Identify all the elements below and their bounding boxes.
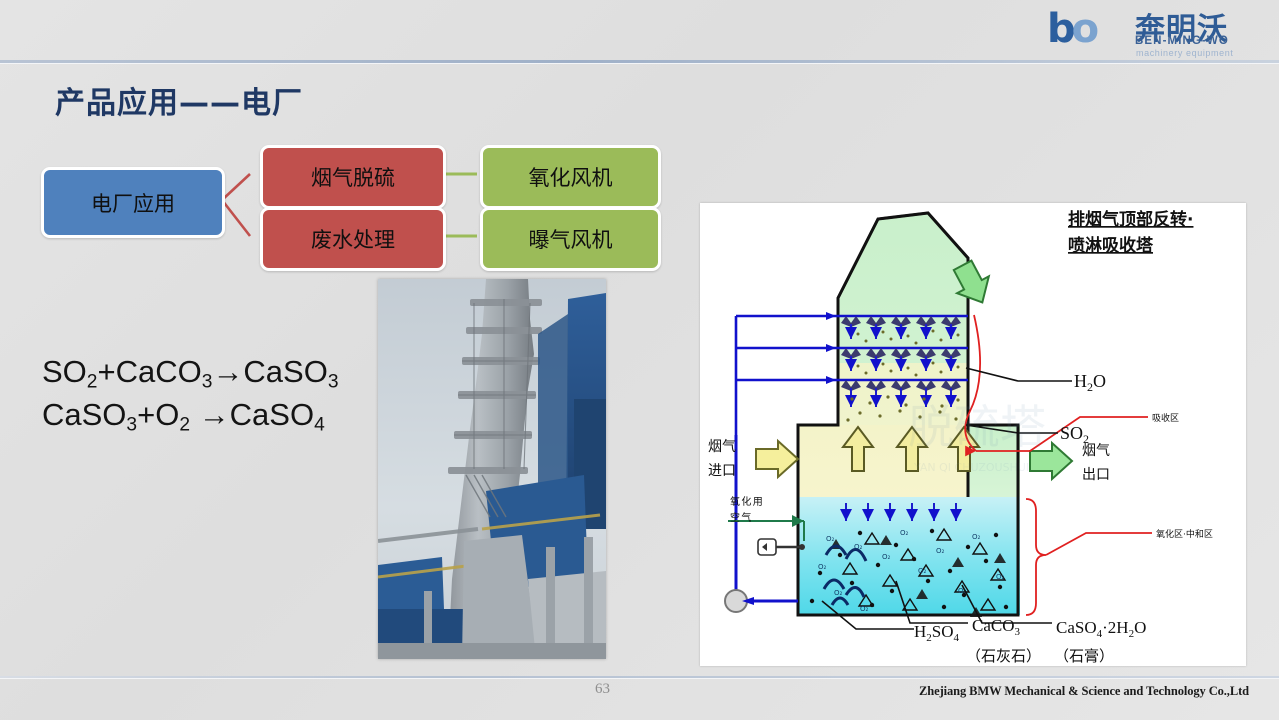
label-caco3: CaCO3 bbox=[972, 616, 1021, 638]
header-divider-highlight bbox=[0, 63, 1279, 64]
h2o-h: H bbox=[1074, 371, 1087, 391]
svg-text:O₂: O₂ bbox=[826, 535, 835, 543]
flow-node-desulfurization[interactable]: 烟气脱硫 bbox=[260, 145, 446, 209]
flow-diagram: 电厂应用 烟气脱硫 废水处理 氧化风机 曝气风机 bbox=[40, 145, 670, 270]
flow-node-oxidation-fan[interactable]: 氧化风机 bbox=[480, 145, 661, 209]
footer-divider-highlight bbox=[0, 678, 1279, 679]
absorber-tower-diagram: O₂O₂ O₂O₂ O₂O₂ O₂O₂ O₂O₂ O₂O₂ bbox=[700, 203, 1246, 666]
eq2-caso3: CaSO bbox=[42, 397, 126, 432]
company-logo: bo 奔明沃 BEN-MING-WO machinery equipment bbox=[1047, 4, 1257, 60]
eq1-arrow: → bbox=[212, 354, 243, 389]
label-oxidation-air-line1: 氧化用 bbox=[730, 495, 764, 508]
logo-mark-icon: bo bbox=[1047, 6, 1095, 52]
eq2-plus: + bbox=[137, 397, 155, 432]
eq1-caco3-sub: 3 bbox=[202, 371, 213, 392]
eq1-caso3-sub: 3 bbox=[328, 371, 339, 392]
connector-root-to-middle bbox=[222, 174, 250, 236]
diagram-title-line1: 排烟气顶部反转· bbox=[1068, 209, 1193, 230]
so2-sub: 2 bbox=[1083, 432, 1089, 446]
header-band: bo 奔明沃 BEN-MING-WO machinery equipment bbox=[0, 0, 1279, 62]
page-title: 产品应用——电厂 bbox=[55, 78, 303, 122]
svg-text:O₂: O₂ bbox=[882, 553, 891, 561]
label-inlet-line1: 烟气 bbox=[708, 439, 736, 455]
h2o-o: O bbox=[1093, 371, 1106, 391]
eq1-so2-sub: 2 bbox=[87, 371, 98, 392]
label-absorption-zone: 吸收区 bbox=[1152, 412, 1179, 424]
eq1-caco3: CaCO bbox=[116, 354, 202, 389]
label-oxidation-air-line2: 空气 bbox=[730, 511, 753, 524]
svg-text:O₂: O₂ bbox=[996, 573, 1005, 581]
svg-text:O₂: O₂ bbox=[860, 605, 869, 613]
eq2-o2: O bbox=[155, 397, 179, 432]
svg-text:O₂: O₂ bbox=[834, 589, 843, 597]
plant-photo bbox=[378, 279, 606, 659]
flow-node-root[interactable]: 电厂应用 bbox=[41, 167, 225, 238]
label-inlet-line2: 进口 bbox=[708, 463, 736, 479]
svg-text:脱硫塔: 脱硫塔 bbox=[908, 400, 1046, 454]
svg-text:O₂: O₂ bbox=[900, 529, 909, 537]
eq2-caso3-sub: 3 bbox=[126, 415, 137, 436]
page-number: 63 bbox=[595, 681, 610, 698]
label-outlet-line2: 出口 bbox=[1082, 467, 1110, 483]
eq1-so2: SO bbox=[42, 354, 87, 389]
svg-text:O₂: O₂ bbox=[918, 567, 927, 575]
svg-text:O₂: O₂ bbox=[936, 547, 945, 555]
label-oxidation-zone: 氧化区·中和区 bbox=[1156, 528, 1213, 540]
absorber-diagram-svg: O₂O₂ O₂O₂ O₂O₂ O₂O₂ O₂O₂ O₂O₂ bbox=[700, 203, 1246, 666]
eq1-plus: + bbox=[97, 354, 115, 389]
svg-text:O₂: O₂ bbox=[972, 533, 981, 541]
diagram-title-line2: 喷淋吸收塔 bbox=[1068, 235, 1154, 256]
eq2-caso4-sub: 4 bbox=[314, 415, 325, 436]
label-gypsum: （石膏） bbox=[1054, 647, 1114, 665]
eq2-o2-sub: 2 bbox=[179, 415, 190, 436]
slide-root: bo 奔明沃 BEN-MING-WO machinery equipment 产… bbox=[0, 0, 1279, 720]
eq2-caso4: CaSO bbox=[230, 397, 314, 432]
so2-s: SO bbox=[1060, 423, 1083, 443]
footer-company-name: Zhejiang BMW Mechanical & Science and Te… bbox=[919, 684, 1249, 699]
plant-photo-illustration bbox=[378, 279, 606, 659]
chemical-equations: SO2+CaCO3→CaSO3 CaSO3+O2 →CaSO4 bbox=[42, 352, 339, 439]
tower-liquid-pool bbox=[798, 497, 1020, 615]
equation-row-2: CaSO3+O2 →CaSO4 bbox=[42, 395, 339, 438]
flow-node-aeration-fan[interactable]: 曝气风机 bbox=[480, 207, 661, 271]
svg-text:O₂: O₂ bbox=[818, 563, 827, 571]
diagram-watermark: 脱硫塔 YAN QI CHUZOUSHUI bbox=[908, 400, 1046, 474]
label-limestone: （石灰石） bbox=[966, 647, 1041, 665]
eq1-caso3: CaSO bbox=[243, 354, 327, 389]
eq2-arrow: → bbox=[199, 397, 230, 432]
equation-row-1: SO2+CaCO3→CaSO3 bbox=[42, 352, 339, 395]
logo-english-name: BEN-MING-WO bbox=[1135, 35, 1229, 47]
label-h2so4: H2SO4 bbox=[914, 622, 960, 644]
logo-tagline: machinery equipment bbox=[1136, 48, 1233, 58]
svg-text:YAN QI CHUZOUSHUI: YAN QI CHUZOUSHUI bbox=[913, 461, 1029, 474]
flow-node-wastewater[interactable]: 废水处理 bbox=[260, 207, 446, 271]
